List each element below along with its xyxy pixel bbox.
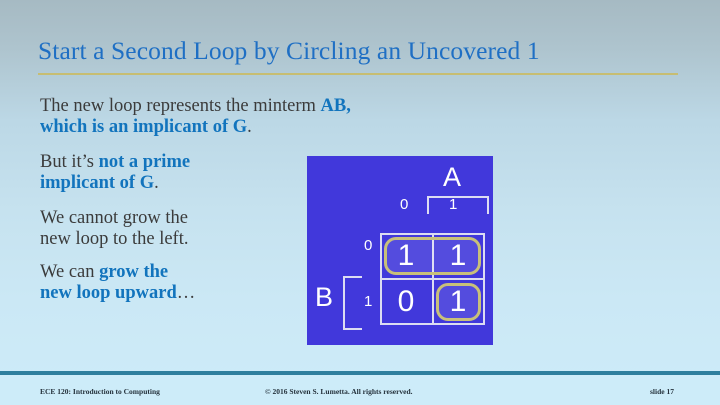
body-paragraph-2: But it’s not a prime implicant of G.: [40, 152, 295, 194]
kmap-cell-a1b1: 1: [432, 279, 484, 325]
kmap-column-label-a0: 0: [400, 197, 408, 212]
kmap-row-label-b0: 0: [364, 238, 372, 253]
p4-emphasis-grow: grow the: [99, 262, 168, 282]
p1-period: .: [247, 117, 252, 137]
body-paragraph-1: The new loop represents the minterm AB, …: [40, 96, 490, 138]
kmap-cell-a1b0: 1: [432, 233, 484, 279]
p2-emphasis-not-prime: not a prime: [99, 152, 190, 172]
p4-ellipsis: …: [177, 283, 196, 303]
p2-emphasis-implicant: implicant of G: [40, 173, 154, 193]
body-paragraph-4: We can grow the new loop upward…: [40, 262, 295, 304]
p2-text-lead: But it’s: [40, 152, 99, 172]
slide-canvas: Start a Second Loop by Circling an Uncov…: [0, 0, 720, 405]
p1-emphasis-minterm: AB,: [321, 96, 351, 116]
page-title: Start a Second Loop by Circling an Uncov…: [38, 36, 688, 66]
kmap-cell-a0b0: 1: [380, 233, 432, 279]
footer-slide-number: slide 17: [650, 387, 674, 397]
p1-text-lead: The new loop represents the minterm: [40, 96, 321, 116]
p3-line-2: new loop to the left.: [40, 229, 188, 249]
p3-line-1: We cannot grow the: [40, 208, 188, 228]
kmap-variable-a-label: A: [443, 164, 461, 191]
kmap-column-label-a1: 1: [449, 197, 457, 212]
kmap-variable-a-bracket: [427, 196, 489, 214]
body-paragraph-3: We cannot grow the new loop to the left.: [40, 208, 295, 250]
p2-period: .: [154, 173, 159, 193]
footer-course-name: ECE 120: Introduction to Computing: [40, 387, 160, 397]
p1-emphasis-implicant: which is an implicant of G: [40, 117, 247, 137]
footer-copyright: © 2016 Steven S. Lumetta. All rights res…: [265, 387, 413, 397]
p4-text-lead: We can: [40, 262, 99, 282]
kmap-variable-b-label: B: [315, 284, 333, 311]
kmap-cell-a0b1: 0: [380, 279, 432, 325]
kmap-figure: A 1 0 B 1 0 1 1 0 1: [307, 156, 493, 345]
p4-emphasis-upward: new loop upward: [40, 283, 177, 303]
kmap-row-label-b1: 1: [364, 294, 372, 309]
kmap-variable-b-bracket: [343, 276, 362, 330]
title-divider: [38, 73, 678, 75]
